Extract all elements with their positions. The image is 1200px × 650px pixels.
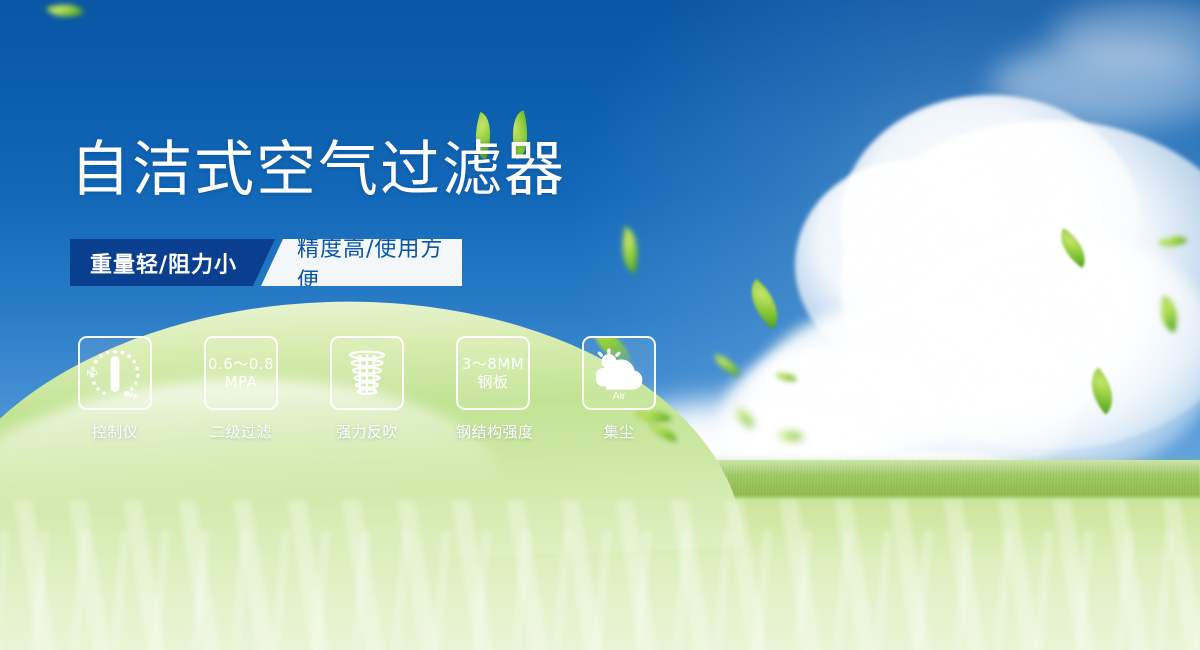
feature-item-steel-strength[interactable]: 3～8MM 钢板 钢结构强度 <box>456 336 530 442</box>
feature-icon-box <box>330 336 404 410</box>
subtitle-segment-right: 精度高/使用方便 <box>261 239 462 286</box>
feature-label-strong-backblow: 强力反吹 <box>330 421 404 442</box>
feature-icon-box: Air <box>582 336 656 410</box>
feature-label-dust-collection: 集尘 <box>582 421 656 442</box>
pressure-unit-line: MPA <box>208 373 274 391</box>
feature-item-strong-backblow[interactable]: 强力反吹 <box>330 336 404 442</box>
feature-item-dust-collection[interactable]: Air 集尘 <box>582 336 656 442</box>
feature-list: NO OFF 控制仪 0.6～0.8 MPA 二级过滤 <box>78 336 656 442</box>
coil-stack-icon <box>338 344 396 402</box>
gauge-off-label: OFF <box>123 389 140 402</box>
gauge-dial-icon: NO OFF <box>83 341 147 405</box>
steel-plate-text-icon: 3～8MM 钢板 <box>462 355 524 391</box>
cloud-air-icon: Air <box>588 344 650 402</box>
feature-item-two-stage-filter[interactable]: 0.6～0.8 MPA 二级过滤 <box>204 336 278 442</box>
feature-item-controller[interactable]: NO OFF 控制仪 <box>78 336 152 442</box>
steel-plate-line: 钢板 <box>462 373 524 391</box>
feature-label-two-stage-filter: 二级过滤 <box>204 421 278 442</box>
subtitle-right-text: 精度高/使用方便 <box>261 231 462 295</box>
air-label: Air <box>613 390 626 402</box>
subtitle-segment-left: 重量轻/阻力小 <box>70 239 275 286</box>
mown-path-stripes <box>0 530 1200 650</box>
feature-icon-box: NO OFF <box>78 336 152 410</box>
pressure-text-icon: 0.6～0.8 MPA <box>208 355 274 391</box>
page-title: 自洁式空气过滤器 <box>70 140 566 200</box>
feature-icon-box: 0.6～0.8 MPA <box>204 336 278 410</box>
feature-label-steel-strength: 钢结构强度 <box>456 421 530 442</box>
subtitle-left-text: 重量轻/阻力小 <box>70 247 237 279</box>
feature-label-controller: 控制仪 <box>78 421 152 442</box>
gauge-on-label: NO <box>87 368 98 377</box>
pressure-range-line: 0.6～0.8 <box>208 355 274 373</box>
subtitle-bar: 重量轻/阻力小 精度高/使用方便 <box>70 239 462 286</box>
feature-icon-box: 3～8MM 钢板 <box>456 336 530 410</box>
product-hero-banner: 自洁式空气过滤器 重量轻/阻力小 精度高/使用方便 <box>0 0 1200 650</box>
steel-thickness-line: 3～8MM <box>462 355 524 373</box>
